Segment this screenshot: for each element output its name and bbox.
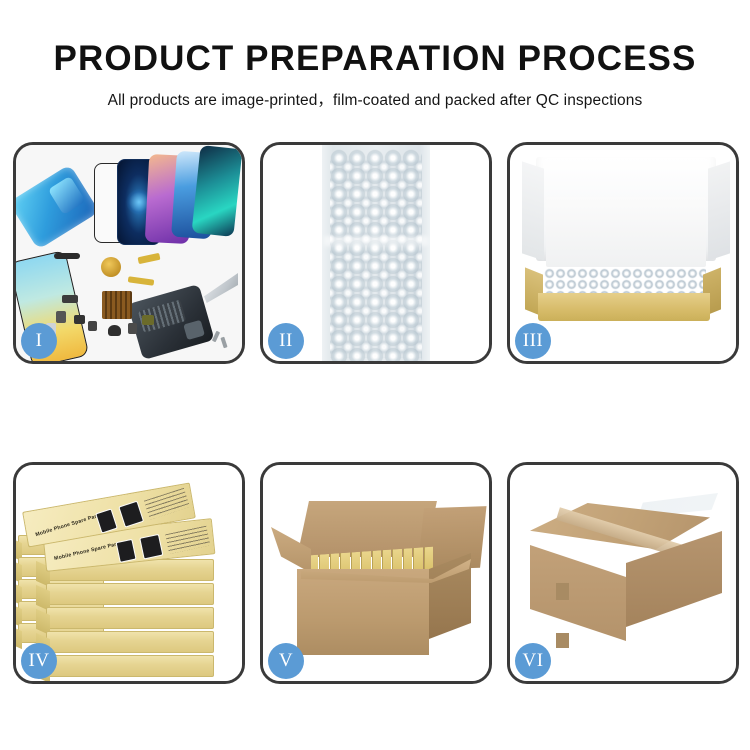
tweezers-icon: [204, 273, 238, 303]
step-badge-5: V: [268, 643, 304, 679]
mailer-box-front-icon: [538, 293, 710, 321]
flex-cable-icon-1: [138, 253, 161, 264]
process-steps-grid: I II III: [13, 142, 739, 687]
step-badge-4: IV: [21, 643, 57, 679]
foam-insert-icon: [546, 197, 706, 267]
process-step-panel-3: III: [507, 142, 739, 364]
bubble-row-layer-2: [330, 158, 422, 358]
bubble-wrap-pouch-icon: [322, 145, 430, 361]
retail-box-icon-r3: [46, 607, 214, 629]
small-part-icon-4: [88, 321, 97, 331]
process-step-panel-4: Mobile Phone Spare Parts Mobile Phone Sp…: [13, 462, 245, 684]
page-subtitle: All products are image-printed，film-coat…: [0, 88, 750, 110]
small-part-icon-6: [128, 323, 137, 334]
small-part-icon-1: [62, 295, 78, 303]
sealed-carton-left-face: [530, 537, 626, 641]
retail-box-icon-r5: [46, 655, 214, 677]
process-step-panel-5: V: [260, 462, 492, 684]
process-step-panel-2: II: [260, 142, 492, 364]
retail-box-icon-r2: [46, 583, 214, 605]
step-badge-3: III: [515, 323, 551, 359]
small-part-icon-2: [56, 311, 66, 323]
step-badge-1: I: [21, 323, 57, 359]
small-part-icon-3: [74, 315, 85, 324]
chip-array-icon: [102, 291, 132, 319]
phone-screen-teal-icon: [192, 145, 242, 237]
flex-cable-icon-2: [128, 276, 155, 286]
product-preparation-infographic: PRODUCT PREPARATION PROCESS All products…: [0, 0, 750, 750]
screw-icon-2: [220, 337, 227, 349]
page-title: PRODUCT PREPARATION PROCESS: [0, 41, 750, 76]
screw-icon-1: [212, 331, 220, 343]
small-part-icon-5: [108, 325, 121, 336]
bubble-wrapped-contents-icon: [544, 268, 706, 296]
phone-motherboard-icon: [127, 284, 214, 360]
small-part-icon-7: [142, 315, 154, 325]
earpiece-speaker-icon: [54, 253, 80, 259]
process-step-panel-1: I: [13, 142, 245, 364]
retail-box-icon-r4: [46, 631, 214, 653]
plastic-sheen: [324, 236, 428, 246]
step-badge-6: VI: [515, 643, 551, 679]
tape-tab-icon-2: [556, 633, 569, 648]
step-badge-2: II: [268, 323, 304, 359]
vibration-motor-icon: [101, 257, 121, 277]
box-artwork-screen-2b: [139, 534, 163, 560]
phone-back-plate-blue-icon: [16, 164, 99, 250]
process-step-panel-6: VI: [507, 462, 739, 684]
tape-tab-icon-1: [556, 583, 569, 600]
header: PRODUCT PREPARATION PROCESS All products…: [0, 0, 750, 110]
